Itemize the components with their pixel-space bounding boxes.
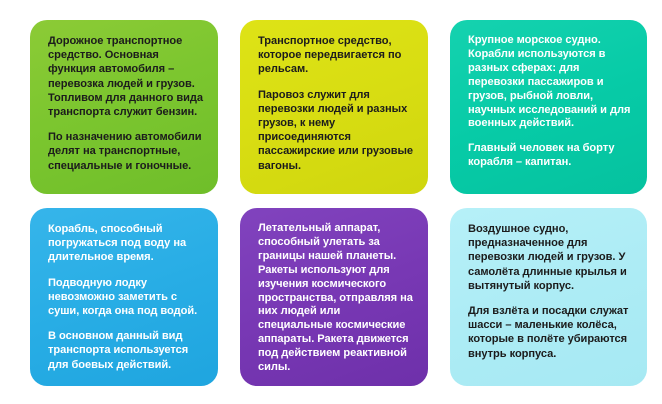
card-airplane: Воздушное судно, предназначенное для пер… <box>450 208 647 386</box>
cards-board: Дорожное транспортное средство. Основная… <box>0 0 662 404</box>
card-rocket: Летательный аппарат, способный улетать з… <box>240 208 428 386</box>
card-ship-paragraph-1: Крупное морское судно. Корабли использую… <box>468 34 634 131</box>
card-submarine: Корабль, способный погружаться под воду … <box>30 208 218 386</box>
card-automobile: Дорожное транспортное средство. Основная… <box>30 20 218 194</box>
card-automobile-paragraph-2: По назначению автомобили делят на трансп… <box>48 130 205 173</box>
card-train: Транспортное средство, которое передвига… <box>240 20 428 194</box>
card-rocket-paragraph-1: Летательный аппарат, способный улетать з… <box>258 222 415 375</box>
card-train-paragraph-1: Транспортное средство, которое передвига… <box>258 34 415 77</box>
card-automobile-paragraph-1: Дорожное транспортное средство. Основная… <box>48 34 205 119</box>
card-submarine-paragraph-2: Подводную лодку невозможно заметить с су… <box>48 276 205 319</box>
card-submarine-paragraph-1: Корабль, способный погружаться под воду … <box>48 222 205 265</box>
card-ship: Крупное морское судно. Корабли использую… <box>450 20 647 194</box>
card-ship-paragraph-2: Главный человек на борту корабля – капит… <box>468 142 634 170</box>
card-airplane-paragraph-2: Для взлёта и посадки служат шасси – мале… <box>468 304 634 361</box>
card-train-paragraph-2: Паровоз служит для перевозки людей и раз… <box>258 88 415 173</box>
card-submarine-paragraph-3: В основном данный вид транспорта использ… <box>48 329 205 372</box>
card-airplane-paragraph-1: Воздушное судно, предназначенное для пер… <box>468 222 634 293</box>
